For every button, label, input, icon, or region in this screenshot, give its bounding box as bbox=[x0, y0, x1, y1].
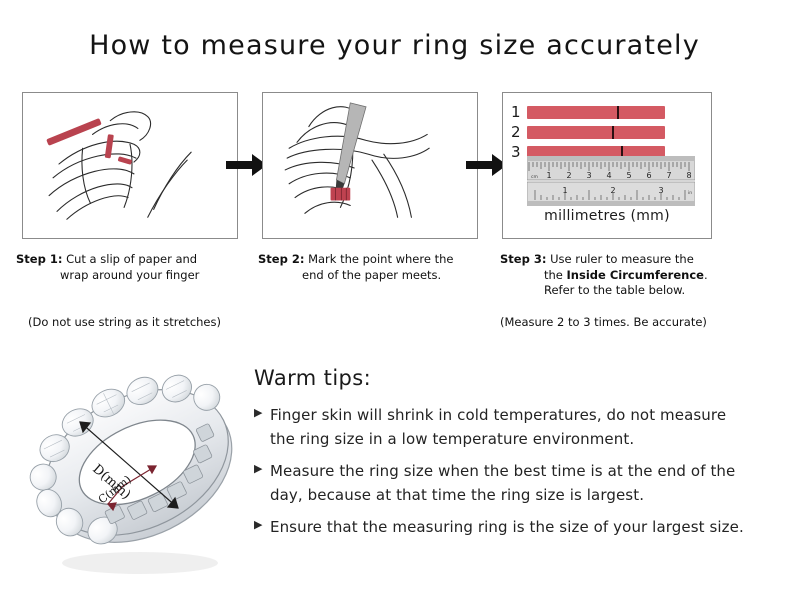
ring-diagram: D(mm) C(mm) bbox=[28, 358, 250, 586]
triangle-bullet-icon: ▶ bbox=[254, 403, 270, 418]
step-3-line2-pre: the bbox=[544, 268, 567, 282]
step-3-line1: Use ruler to measure the bbox=[550, 252, 694, 266]
step-3-note: (Measure 2 to 3 times. Be accurate) bbox=[500, 315, 707, 329]
svg-text:2: 2 bbox=[566, 171, 571, 180]
step-2-line2: end of the paper meets. bbox=[258, 268, 498, 284]
step-3-label: Step 3: bbox=[500, 252, 546, 266]
paper-strip bbox=[527, 126, 665, 139]
ruler-graphic: 123 456 78 cm bbox=[527, 156, 695, 206]
svg-text:cm: cm bbox=[531, 175, 538, 180]
svg-text:1: 1 bbox=[546, 171, 551, 180]
step-2-label: Step 2: bbox=[258, 252, 304, 266]
hand-with-paper-strip-icon bbox=[23, 93, 237, 238]
page-title: How to measure your ring size accurately bbox=[0, 30, 789, 61]
tip-item: ▶ Measure the ring size when the best ti… bbox=[254, 459, 754, 507]
step-3-line3: Refer to the table below. bbox=[500, 283, 750, 299]
svg-text:7: 7 bbox=[666, 171, 671, 180]
svg-text:2: 2 bbox=[610, 186, 615, 195]
svg-text:6: 6 bbox=[646, 171, 651, 180]
svg-text:3: 3 bbox=[658, 186, 663, 195]
step-1-illustration-panel bbox=[22, 92, 238, 239]
svg-text:8: 8 bbox=[686, 171, 691, 180]
warm-tips-heading: Warm tips: bbox=[254, 366, 754, 390]
triangle-bullet-icon: ▶ bbox=[254, 459, 270, 474]
step-2-caption: Step 2: Mark the point where the end of … bbox=[258, 252, 498, 283]
step-3-illustration-panel: 1 2 3 bbox=[502, 92, 712, 239]
tip-item: ▶ Finger skin will shrink in cold temper… bbox=[254, 403, 754, 451]
step-1-line1: Cut a slip of paper and bbox=[66, 252, 197, 266]
svg-text:3: 3 bbox=[586, 171, 591, 180]
svg-text:5: 5 bbox=[626, 171, 631, 180]
strip-mark bbox=[612, 126, 614, 139]
warm-tips-section: Warm tips: ▶ Finger skin will shrink in … bbox=[254, 366, 754, 547]
step-2-line1: Mark the point where the bbox=[308, 252, 453, 266]
step-1-line2: wrap around your finger bbox=[16, 268, 256, 284]
ruler-unit-caption: millimetres (mm) bbox=[503, 208, 711, 224]
strip-number: 3 bbox=[511, 145, 527, 160]
paper-strip bbox=[527, 106, 665, 119]
step-3-line2-post: . bbox=[704, 268, 708, 282]
measure-strip-row: 1 bbox=[511, 105, 665, 120]
step-3-line2: the Inside Circumference. bbox=[500, 268, 750, 284]
step-1-label: Step 1: bbox=[16, 252, 62, 266]
step-1-note: (Do not use string as it stretches) bbox=[28, 315, 221, 329]
tip-item: ▶ Ensure that the measuring ring is the … bbox=[254, 515, 754, 539]
tip-text: Measure the ring size when the best time… bbox=[270, 459, 754, 507]
strip-number: 1 bbox=[511, 105, 527, 120]
hand-marking-paper-with-pen-icon bbox=[263, 93, 477, 238]
step-2-illustration-panel bbox=[262, 92, 478, 239]
svg-text:in: in bbox=[688, 190, 692, 196]
step-3-caption: Step 3: Use ruler to measure the the Ins… bbox=[500, 252, 750, 299]
measure-strip-row: 2 bbox=[511, 125, 665, 140]
triangle-bullet-icon: ▶ bbox=[254, 515, 270, 530]
strip-number: 2 bbox=[511, 125, 527, 140]
svg-text:4: 4 bbox=[606, 171, 611, 180]
inside-circumference-emphasis: Inside Circumference bbox=[567, 268, 704, 282]
strip-mark bbox=[617, 106, 619, 119]
tip-text: Ensure that the measuring ring is the si… bbox=[270, 515, 744, 539]
tip-text: Finger skin will shrink in cold temperat… bbox=[270, 403, 754, 451]
svg-text:1: 1 bbox=[562, 186, 567, 195]
step-1-caption: Step 1: Cut a slip of paper and wrap aro… bbox=[16, 252, 256, 283]
